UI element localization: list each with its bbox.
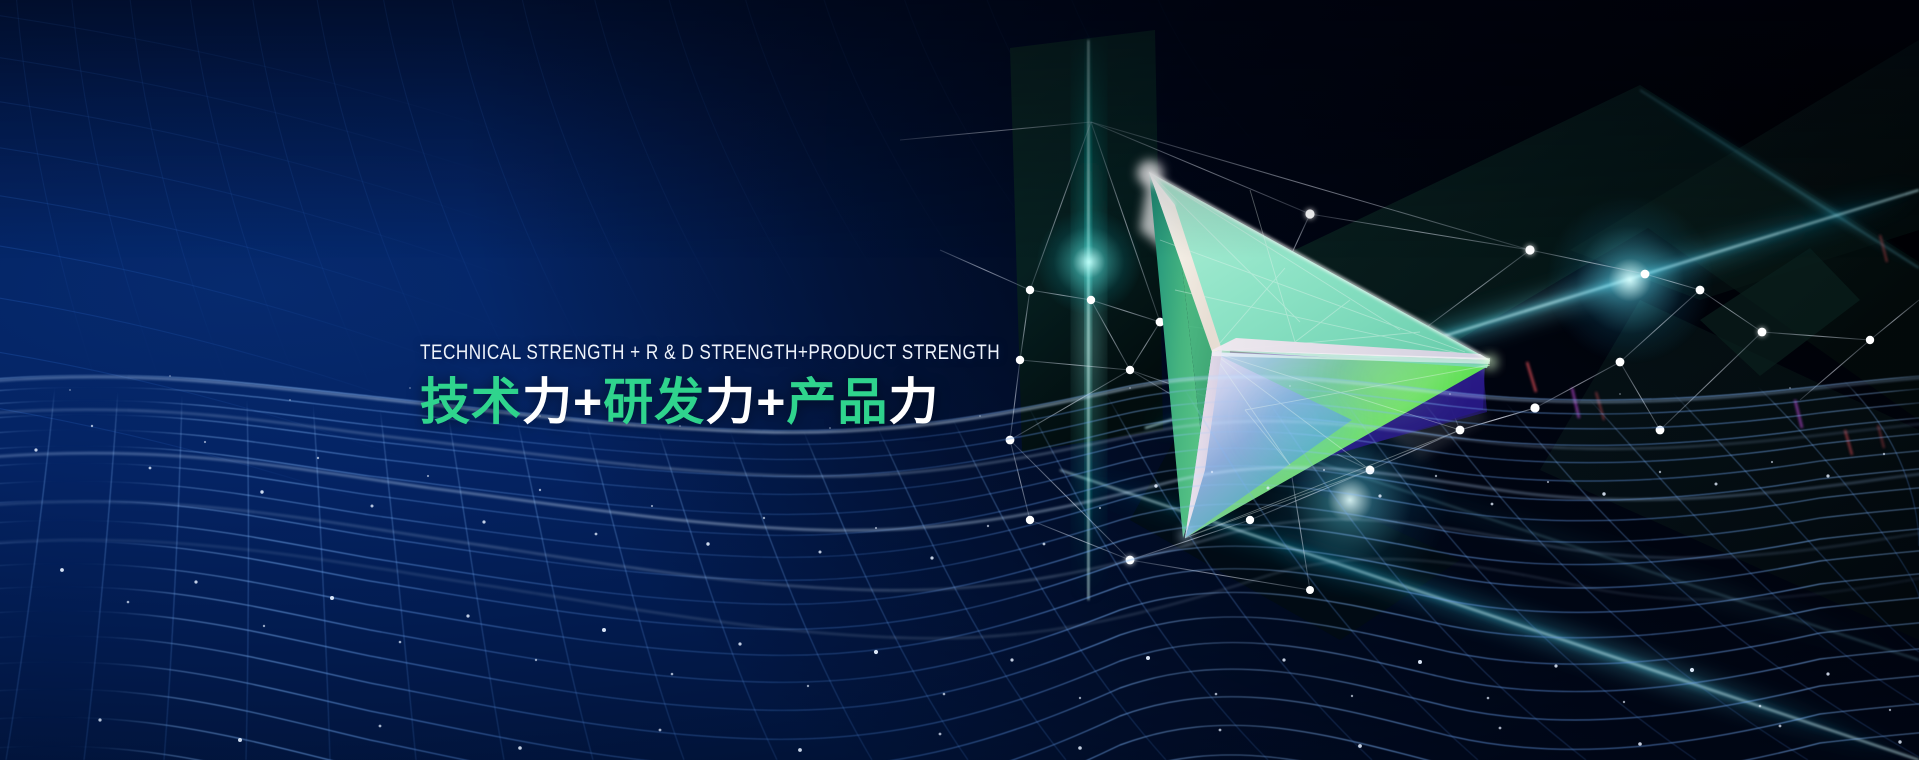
title-part-2: 力 [522,374,573,430]
hero-banner: TECHNICAL STRENGTH + R & D STRENGTH+PROD… [0,0,1919,760]
title-part-8: 力 [888,374,939,430]
title-part-4: 研发 [603,374,705,430]
headline-block: TECHNICAL STRENGTH + R & D STRENGTH+PROD… [420,338,1145,432]
title-part-3: + [573,374,603,430]
title-part-1: 技术 [420,374,522,430]
title-part-7: 产品 [786,374,888,430]
title-part-6: + [756,374,786,430]
title-part-5: 力 [705,374,756,430]
page-title: 技术力+研发力+产品力 [420,372,1145,432]
eyebrow-text: TECHNICAL STRENGTH + R & D STRENGTH+PROD… [420,338,1000,366]
